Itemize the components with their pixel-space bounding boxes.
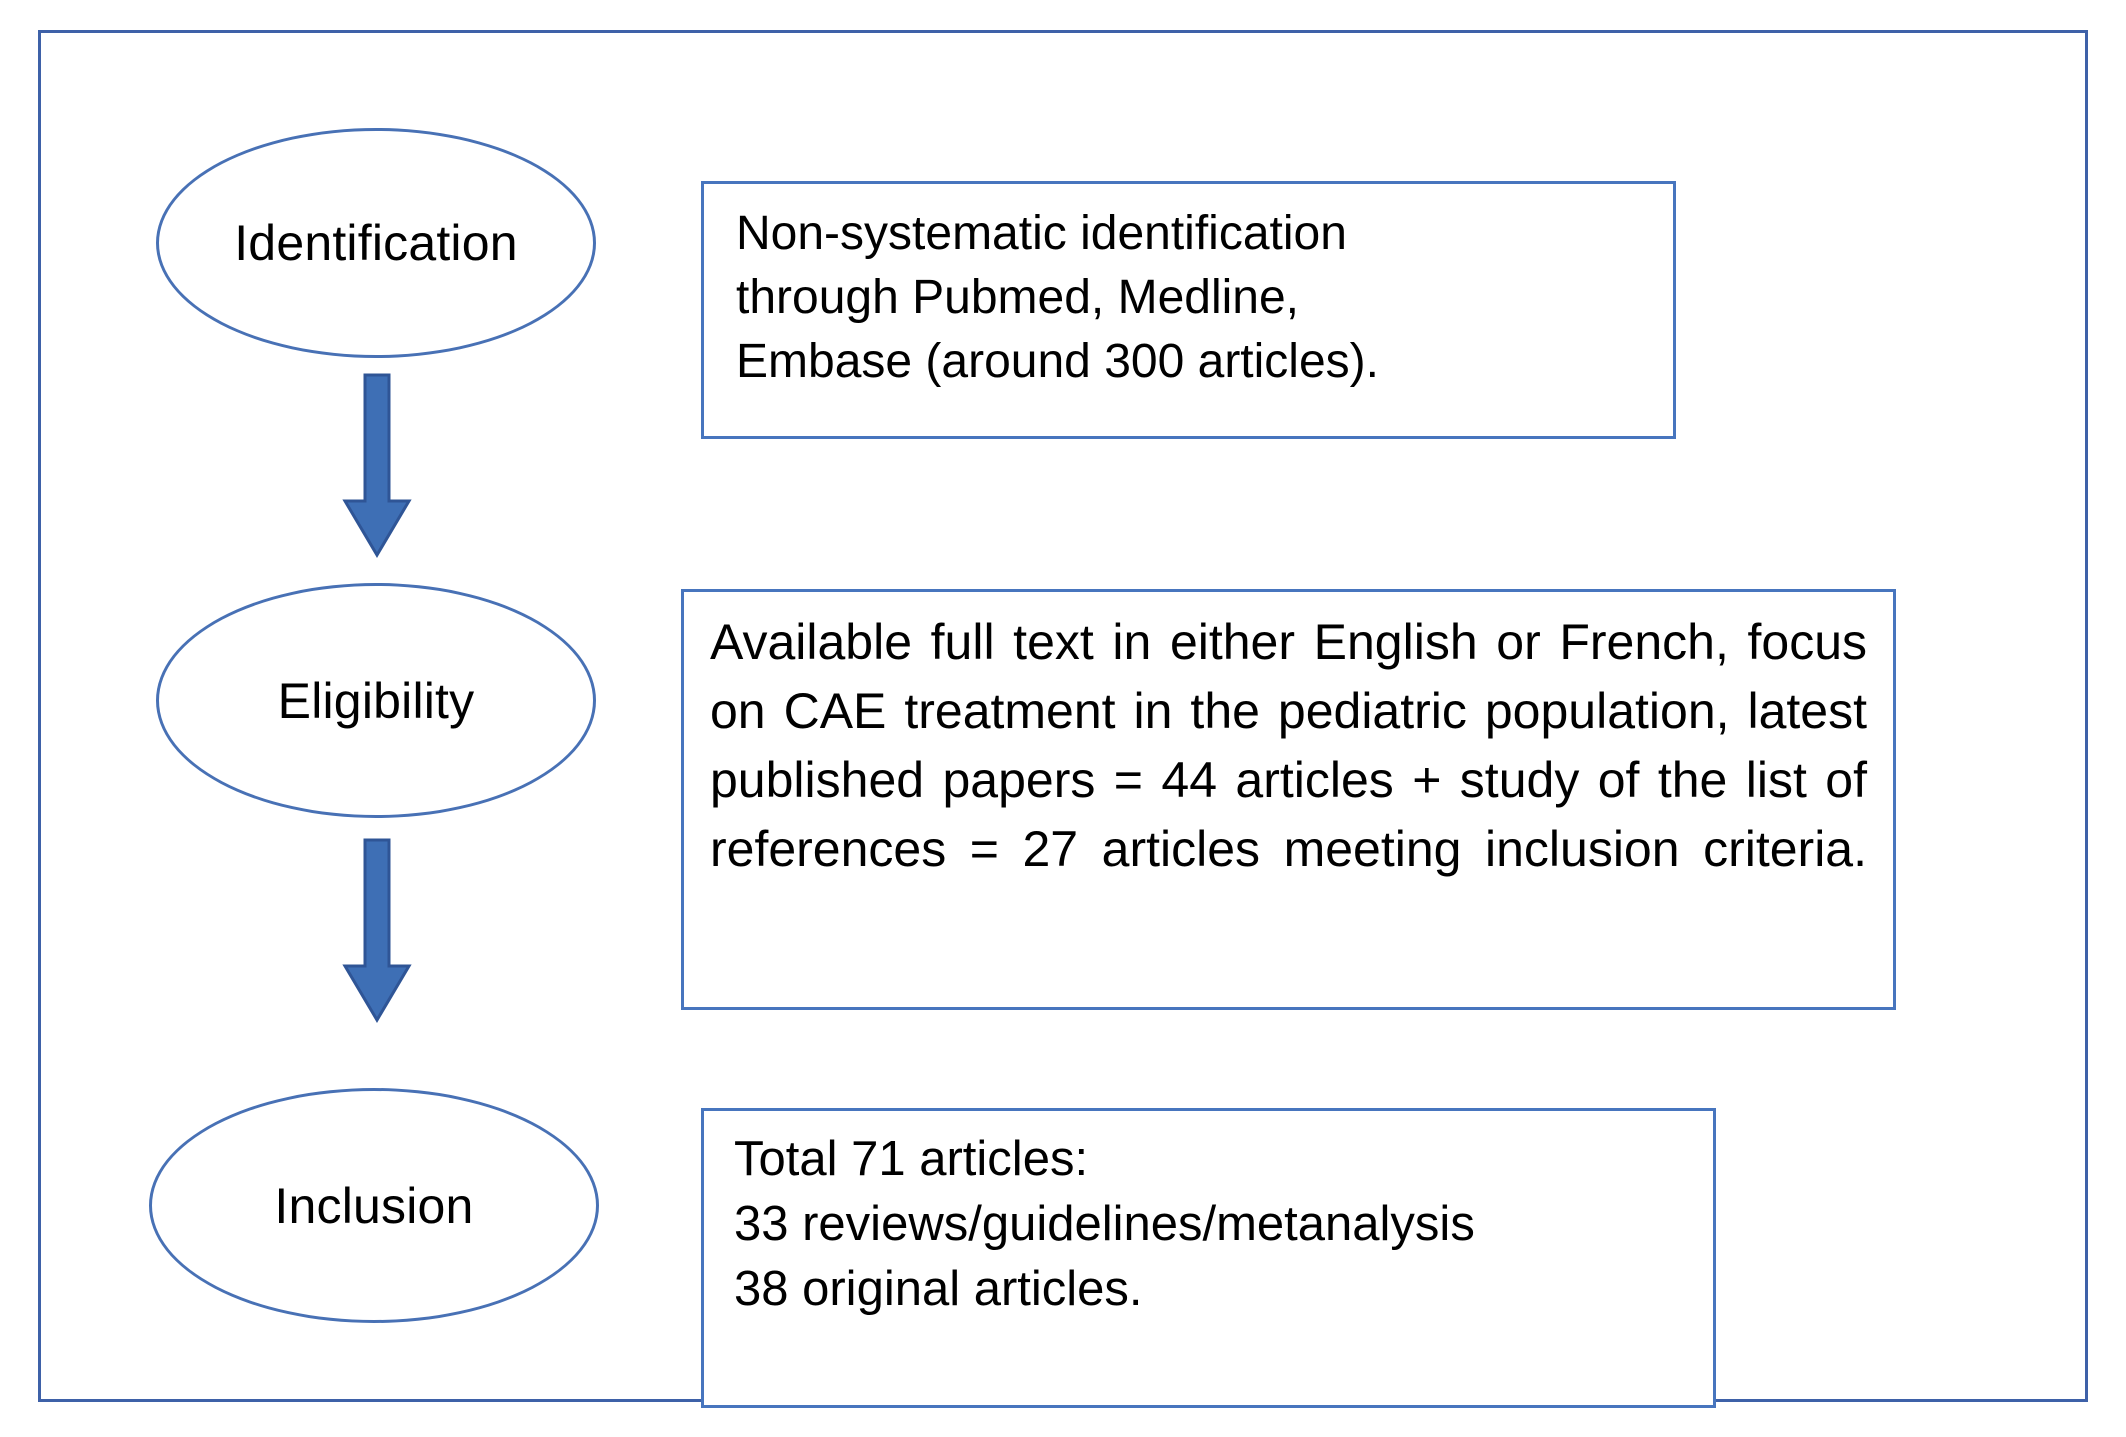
stage-label-eligibility: Eligibility: [278, 676, 475, 726]
arrow-eligibility-to-inclusion-icon: [341, 838, 413, 1023]
stage-text-eligibility: Available full text in either English or…: [710, 608, 1867, 953]
stage-label-identification: Identification: [234, 218, 518, 268]
stage-ellipse-inclusion: Inclusion: [149, 1088, 599, 1323]
stage-text-inclusion: Total 71 articles: 33 reviews/guidelines…: [734, 1127, 1713, 1322]
stage-text-identification: Non-systematic identification through Pu…: [736, 202, 1673, 393]
stage-textbox-inclusion: Total 71 articles: 33 reviews/guidelines…: [701, 1108, 1716, 1408]
stage-textbox-eligibility: Available full text in either English or…: [681, 589, 1896, 1010]
stage-ellipse-eligibility: Eligibility: [156, 583, 596, 818]
stage-label-inclusion: Inclusion: [274, 1181, 473, 1231]
arrow-identification-to-eligibility-icon: [341, 373, 413, 558]
stage-textbox-identification: Non-systematic identification through Pu…: [701, 181, 1676, 439]
diagram-canvas: Identification Non-systematic identifica…: [0, 0, 2126, 1437]
stage-ellipse-identification: Identification: [156, 128, 596, 358]
diagram-outer-frame: Identification Non-systematic identifica…: [38, 30, 2088, 1402]
